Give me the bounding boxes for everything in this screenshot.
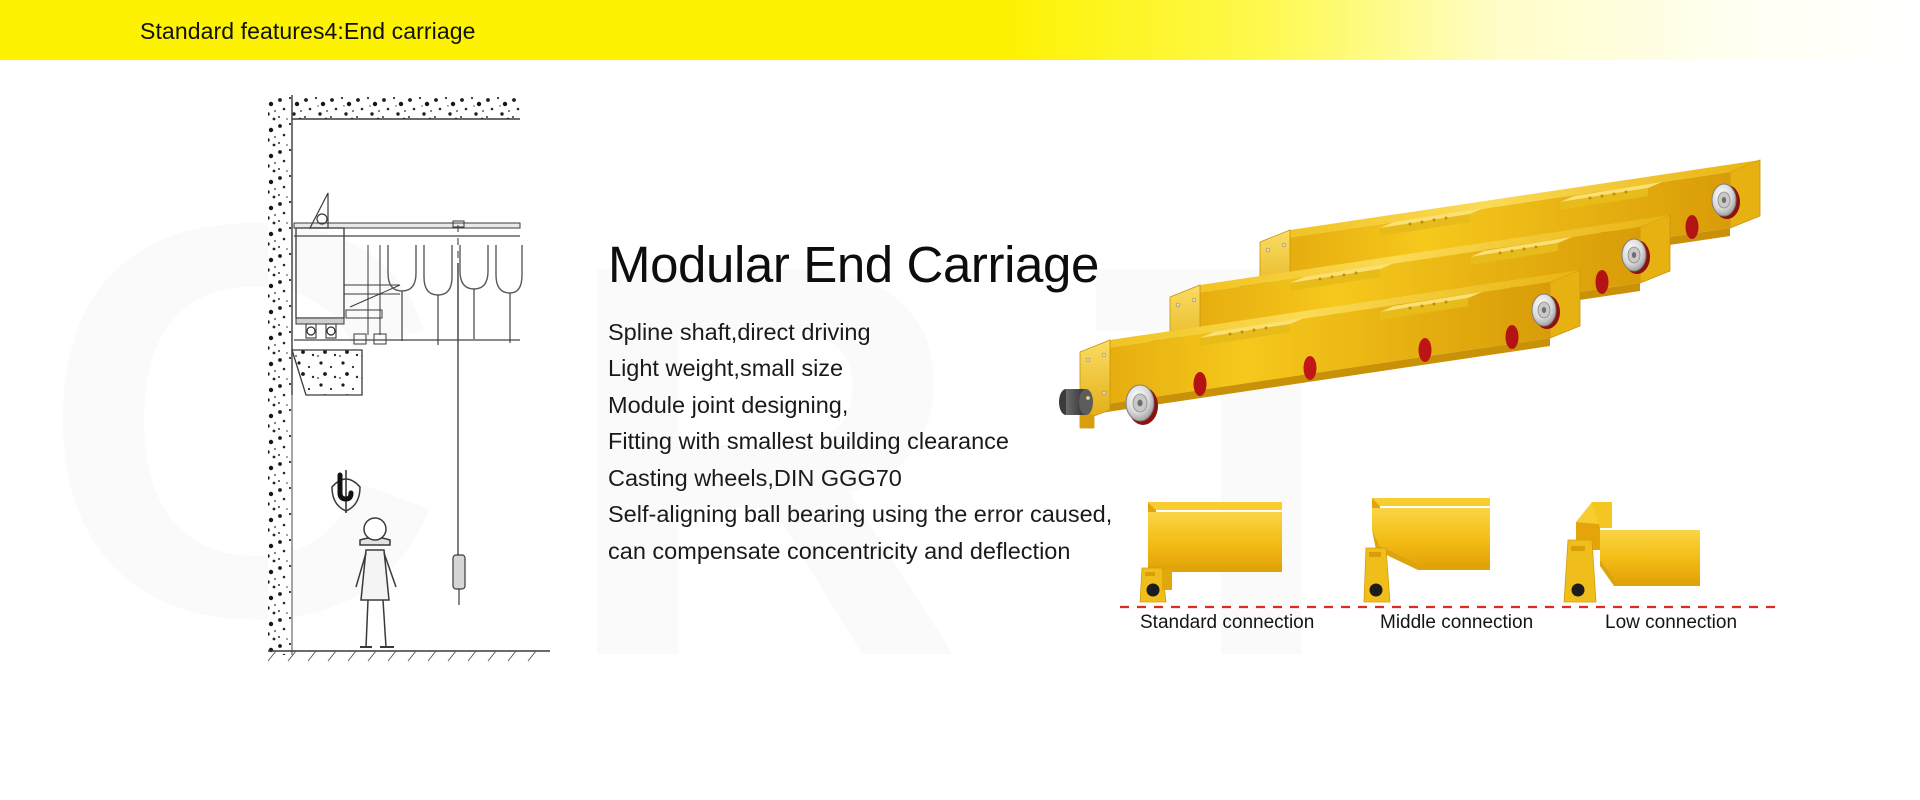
connection-diagram-standard [1140, 502, 1282, 602]
ground-line [268, 651, 550, 661]
banner-title: Standard features4:End carriage [140, 18, 476, 45]
lifting-rope [453, 221, 464, 555]
connection-captions: Standard connection Middle connection Lo… [1140, 612, 1800, 642]
festoon-cable-loops [388, 245, 522, 345]
corbel-bracket [292, 350, 362, 395]
caption-standard-connection: Standard connection [1140, 612, 1314, 634]
concrete-wall-hatch [268, 95, 292, 655]
connection-diagram-middle [1364, 498, 1490, 602]
end-carriage-illustration [1020, 150, 1920, 630]
wall-section-line-drawing [250, 95, 570, 795]
hoist-trolley [296, 193, 400, 344]
header-banner: Standard features4:End carriage [0, 0, 1920, 60]
suspended-load [453, 555, 465, 605]
caption-low-connection: Low connection [1605, 612, 1737, 634]
hook-block [332, 470, 360, 513]
operator-figure [356, 518, 396, 647]
connection-diagram-low [1564, 502, 1700, 602]
caption-middle-connection: Middle connection [1380, 612, 1533, 634]
ceiling-slab [268, 95, 520, 119]
